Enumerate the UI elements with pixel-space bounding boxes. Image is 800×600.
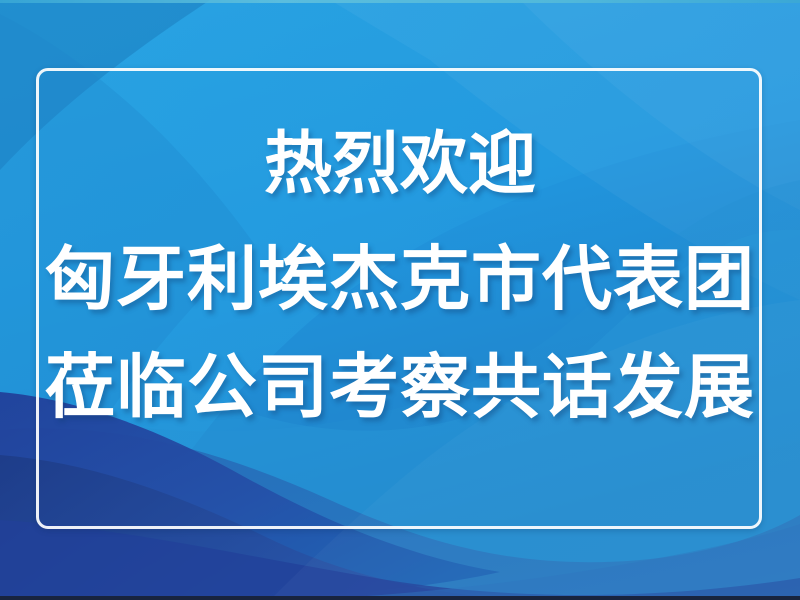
welcome-banner: 热烈欢迎 匈牙利埃杰克市代表团 莅临公司考察共话发展 [0,0,800,600]
top-highlight-strip [0,0,800,3]
headline-line-3: 莅临公司考察共话发展 [0,352,800,422]
headline-line-1: 热烈欢迎 [0,130,800,198]
bottom-edge-strip [0,596,800,600]
headline-block: 热烈欢迎 匈牙利埃杰克市代表团 莅临公司考察共话发展 [0,130,800,422]
headline-line-2: 匈牙利埃杰克市代表团 [0,244,800,314]
